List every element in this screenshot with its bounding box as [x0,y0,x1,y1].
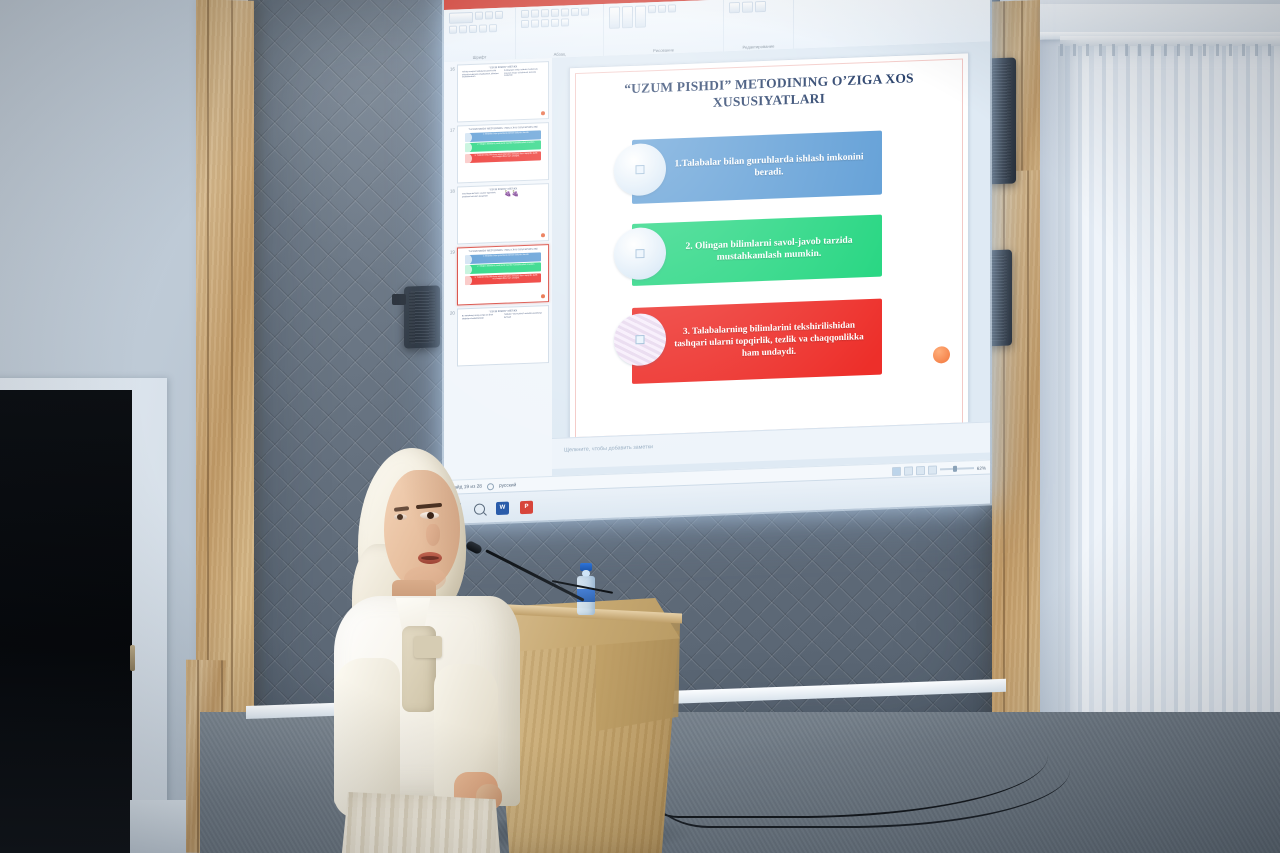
thumbnail-number: 20 [447,309,455,367]
find-icon[interactable] [729,2,740,13]
ribbon-icons[interactable] [521,7,598,28]
columns-icon[interactable] [541,19,549,27]
slideshow-icon[interactable] [928,465,937,474]
thumbnail-accent-dot [541,111,545,115]
clear-format-icon[interactable] [489,24,497,32]
powerpoint-icon[interactable]: P [520,500,533,513]
thumbnail-band-3: 3. Talabalarning bilimlarini tekshirilis… [465,151,541,163]
curtain-hooks [1060,44,1280,56]
justify-icon[interactable] [531,19,539,27]
eye-far [394,514,407,520]
ribbon-icons[interactable] [449,11,510,34]
slide-editing-canvas[interactable]: “UZUM PISHDI” METODINING O’ZIGA XOS XUSU… [552,42,990,476]
thumbnail-columns: Ta'limiy maqsad: talabalarda guruh bo'li… [458,67,548,80]
thumbnail-band-3: 3. Talabalarning bilimlarini tekshirilis… [465,273,541,285]
shape-fill-icon[interactable] [648,5,656,13]
slide-band-3-text: 3. Talabalarning bilimlarini tekshirilis… [666,319,872,363]
window-curtains [1058,46,1280,746]
thumbnail-columns: Guruhlarga bo'linish, savollar tayyorlas… [458,189,548,202]
crown-molding [1040,4,1280,38]
font-color-icon[interactable] [479,24,487,32]
slide-thumbnail[interactable]: "UZUM PISHDI" METODI Ta'limiy maqsad: ta… [457,61,549,122]
pleated-skirt [330,792,510,853]
thumbnail-band-text: 1.Talabalar bilan guruhlarda ishlash imk… [474,131,538,136]
projection-screen: Анимация Вид Справка Что вы хотите сдела… [444,0,990,524]
bullets-icon[interactable] [521,10,529,18]
speaker-grill [409,291,435,344]
speaker-grill [989,63,1011,180]
thumbnail-band-text: 2. Olingan bilimlarni savol-javob tarzid… [474,264,538,269]
font-name-icon[interactable] [449,12,473,24]
grow-font-icon[interactable] [485,11,493,19]
text-direction-icon[interactable] [551,19,559,27]
replace-icon[interactable] [742,1,753,12]
arrange-icon[interactable] [622,6,633,28]
tab-animation[interactable]: Анимация [562,0,585,1]
outdent-icon[interactable] [551,9,559,17]
slide-band-1[interactable]: 1.Talabalar bilan guruhlarda ishlash imk… [632,131,882,204]
slide-band-1-text: 1.Talabalar bilan guruhlarda ishlash imk… [666,150,872,183]
slide-thumbnail[interactable]: "UZUM PISHDI" METODINING O'ZIGA XOS XUSU… [457,122,549,183]
eye-near [420,512,439,519]
slide-thumbnail-selected[interactable]: "UZUM PISHDI" METODINING O'ZIGA XOS XUSU… [457,244,549,305]
zoom-slider[interactable] [940,467,974,470]
align-center-icon[interactable] [581,8,589,16]
thumbnail-band-text: 3. Talabalarning bilimlarini tekshirilis… [474,152,538,159]
door-handle-icon [130,645,135,671]
thumbnail-text: Kutilayotgan natija: talabalar faollasha… [504,68,544,77]
thumbnail-row[interactable]: 20 "UZUM PISHDI" METODI Bu metodning aso… [444,302,552,367]
slide-thumbnail-rail[interactable]: 16 "UZUM PISHDI" METODI Ta'limiy maqsad:… [444,58,553,480]
thumbnail-band-text: 2. Olingan bilimlarni savol-javob tarzid… [474,142,538,147]
convert-smartart-icon[interactable] [561,18,569,26]
align-right-icon[interactable] [521,20,529,28]
bold-icon[interactable] [495,11,503,19]
ribbon-tab-strip[interactable]: Анимация Вид Справка [562,0,632,1]
indent-icon[interactable] [541,9,549,17]
open-doorway [0,390,132,853]
wall-speaker-left [404,285,440,348]
curtain-corner-shadow [1040,40,1080,760]
thumbnail-row[interactable]: 19 "UZUM PISHDI" METODINING O'ZIGA XOS X… [444,241,552,306]
ribbon-group-font[interactable]: Шрифт [444,7,516,62]
thumbnail-row[interactable]: 16 "UZUM PISHDI" METODI Ta'limiy maqsad:… [444,58,552,123]
thumbnail-band-text: 3. Talabalarning bilimlarini tekshirilis… [474,274,538,281]
photo-scene: Анимация Вид Справка Что вы хотите сдела… [0,0,1280,853]
thumbnail-row[interactable]: 18 "UZUM PISHDI" METODI Guruhlarga bo'li… [444,180,552,245]
speaker-grill [987,255,1007,342]
band-3-inner-square-icon [636,335,645,344]
thumbnail-number: 18 [447,187,455,245]
ribbon-icons[interactable] [609,3,718,29]
thumbnail-text: Bu metodning asosiy o'ziga xos jihati ta… [462,314,502,320]
zoom-slider-handle[interactable] [953,466,957,472]
align-left-icon[interactable] [571,8,579,16]
shapes-gallery-icon[interactable] [609,6,620,28]
grapes-icon: 🍇🍇 [504,190,544,199]
ribbon-group-editing[interactable]: Редактирование [724,0,794,51]
thumbnail-text: Ta'limiy maqsad: talabalarda guruh bo'li… [462,70,502,79]
slide-band-2[interactable]: 2. Olingan bilimlarni savol-javob tarzid… [632,215,882,286]
thumbnail-accent-dot [541,233,545,237]
quick-styles-icon[interactable] [635,5,646,27]
thumbnail-band-text: 1.Talabalar bilan guruhlarda ishlash imk… [474,253,538,258]
slide-band-2-text: 2. Olingan bilimlarni savol-javob tarzid… [666,233,872,266]
thumbnail-row[interactable]: 17 "UZUM PISHDI" METODINING O'ZIGA XOS X… [444,119,552,184]
notes-placeholder: Щелкните, чтобы добавить заметки [564,444,653,453]
slide-thumbnail[interactable]: "UZUM PISHDI" METODI Guruhlarga bo'linis… [457,183,549,244]
ribbon-icons[interactable] [729,0,788,13]
thumbnail-number: 16 [447,65,455,123]
thumbnail-text: Guruhlarga bo'linish, savollar tayyorlas… [462,192,502,201]
thumbnail-number: 19 [447,248,455,306]
presenter [330,448,520,853]
current-slide[interactable]: “UZUM PISHDI” METODINING O’ZIGA XOS XUSU… [569,52,969,444]
slide-band-3[interactable]: 3. Talabalarning bilimlarini tekshirilis… [632,299,882,384]
shape-outline-icon[interactable] [658,5,666,13]
band-2-inner-square-icon [636,249,645,258]
slide-thumbnail[interactable]: "UZUM PISHDI" METODI Bu metodning asosiy… [457,305,549,366]
font-size-icon[interactable] [475,12,483,20]
italic-icon[interactable] [449,26,457,34]
zoom-level[interactable]: 62% [977,465,986,470]
nose [426,524,440,546]
underline-icon[interactable] [459,25,467,33]
thumbnail-accent-dot [541,294,545,298]
select-icon[interactable] [755,1,766,12]
slide-sorter-icon[interactable] [904,466,913,475]
mouth [418,552,442,564]
speaker-mount-left [392,294,406,305]
reading-view-icon[interactable] [916,465,925,474]
thumbnail-number: 17 [447,126,455,184]
normal-view-icon[interactable] [892,466,901,475]
chest-pocket [414,636,442,658]
bottle-label [577,589,595,602]
ribbon-group-paragraph[interactable]: Абзац [516,4,604,59]
line-spacing-icon[interactable] [561,8,569,16]
thumbnail-text: Talabalar "Uzum pishdi" metodida guruhla… [504,312,544,318]
ribbon-group-drawing[interactable]: Рисование [604,0,724,56]
numbering-icon[interactable] [531,9,539,17]
shadow-icon[interactable] [469,25,477,33]
shape-effects-icon[interactable] [668,4,676,12]
band-1-inner-square-icon [636,165,645,174]
